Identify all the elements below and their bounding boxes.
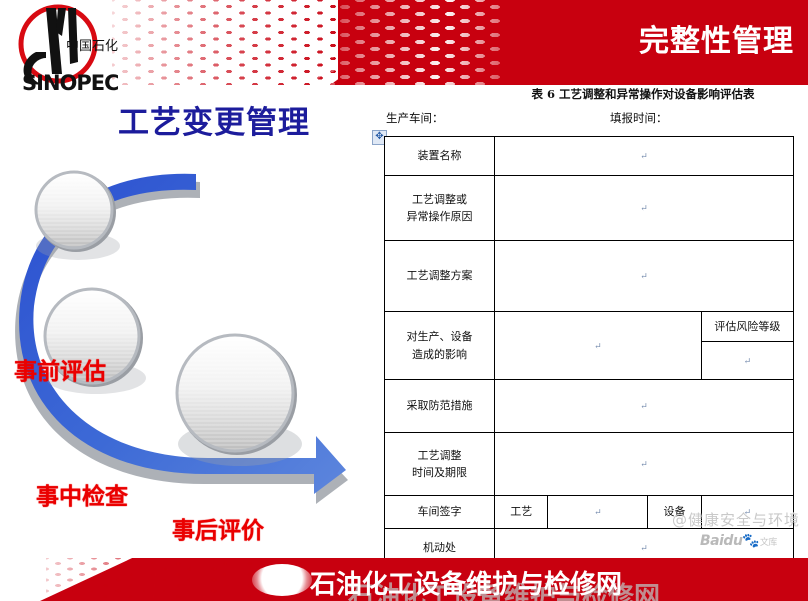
row-label-line2: 异常操作原因 (406, 210, 472, 223)
table-row: 工艺调整方案 ↵ (385, 241, 794, 312)
slide-title: 工艺变更管理 (118, 97, 310, 142)
page-title: 完整性管理 (639, 16, 794, 60)
presentation-slide: 完整性管理 中国石化 SINOPEC 工艺变更管理 (0, 0, 808, 601)
bottom-banner: 石油化工设备维护与检修网 石油化工设备维护与检修网 (0, 558, 808, 601)
top-banner: 完整性管理 (0, 0, 808, 85)
row-label-line2: 时间及期限 (412, 466, 467, 479)
table-row: 采取防范措施 ↵ (385, 380, 794, 433)
step-label-2: 事中检查 (36, 477, 128, 511)
bottom-banner-halftone-dots (46, 558, 276, 601)
row-value-adjust-reason[interactable]: ↵ (494, 176, 793, 241)
step-circle-3 (177, 335, 302, 466)
baidu-watermark-suffix: 文库 (760, 538, 777, 548)
row-label-adjust-reason: 工艺调整或 异常操作原因 (385, 176, 495, 241)
row-value-adjust-time[interactable]: ↵ (494, 433, 793, 496)
step-label-3: 事后评价 (172, 511, 264, 545)
evaluation-table: 装置名称 ↵ 工艺调整或 异常操作原因 ↵ 工艺调整方案 ↵ 对生产、设备 (384, 136, 794, 568)
row-label-adjust-time: 工艺调整 时间及期限 (385, 433, 495, 496)
step-label-1: 事前评估 (14, 352, 106, 386)
table-row: 对生产、设备 造成的影响 ↵ 评估风险等级 (385, 312, 794, 342)
signature-process-value[interactable]: ↵ (548, 496, 648, 529)
footer-site-name: 石油化工设备维护与检修网 (310, 564, 622, 601)
row-label-line1: 工艺调整 (417, 449, 461, 462)
hse-watermark: @健康安全与环境 (672, 509, 800, 530)
row-value-adjust-plan[interactable]: ↵ (494, 241, 793, 312)
workshop-field-label: 生产车间： (386, 110, 444, 126)
table-row: 工艺调整或 异常操作原因 ↵ (385, 176, 794, 241)
row-value-preventive-measures[interactable]: ↵ (494, 380, 793, 433)
baidu-watermark: Baidu🐾文库 (700, 533, 777, 549)
report-date-field-label: 填报时间： (610, 110, 668, 126)
signature-process-label: 工艺 (494, 496, 548, 529)
evaluation-form-document: 表 6 工艺调整和异常操作对设备影响评估表 生产车间： 填报时间： ✥ 装置名称… (378, 86, 798, 546)
baidu-watermark-text: Baidu (700, 533, 742, 549)
row-label-line2: 造成的影响 (412, 348, 467, 361)
risk-level-value[interactable]: ↵ (701, 342, 793, 380)
form-header-fields: 生产车间： 填报时间： (378, 110, 798, 126)
row-label-line1: 对生产、设备 (406, 330, 472, 343)
svg-text:SINOPEC: SINOPEC (22, 71, 118, 94)
row-label-preventive-measures: 采取防范措施 (385, 380, 495, 433)
row-value-impact[interactable]: ↵ (494, 312, 701, 380)
row-label-adjust-plan: 工艺调整方案 (385, 241, 495, 312)
risk-level-header: 评估风险等级 (701, 312, 793, 342)
table-row: 工艺调整 时间及期限 ↵ (385, 433, 794, 496)
row-label-line1: 工艺调整或 (412, 193, 467, 206)
svg-text:中国石化: 中国石化 (66, 39, 118, 54)
row-label-device-name: 装置名称 (385, 137, 495, 176)
banner-halftone-dots-inverse (300, 0, 500, 85)
row-label-impact: 对生产、设备 造成的影响 (385, 312, 495, 380)
table-caption: 表 6 工艺调整和异常操作对设备影响评估表 (488, 86, 798, 102)
process-flow-diagram: 事前评估 事中检查 事后评价 (0, 148, 382, 508)
row-label-workshop-signature: 车间签字 (385, 496, 495, 529)
paw-icon: 🐾 (742, 533, 759, 549)
sinopec-logo: 中国石化 SINOPEC (6, 2, 118, 94)
table-row: 装置名称 ↵ (385, 137, 794, 176)
row-value-device-name[interactable]: ↵ (494, 137, 793, 176)
bottom-banner-ghost-blob (252, 564, 312, 596)
